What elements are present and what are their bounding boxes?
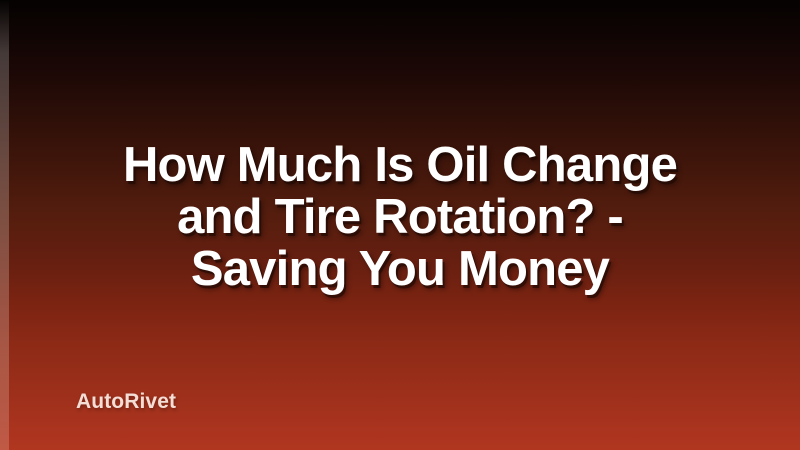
headline: How Much Is Oil Change and Tire Rotation…	[0, 139, 800, 295]
headline-line-3: Saving You Money	[26, 243, 774, 295]
brand-wordmark: AutoRivet	[76, 390, 176, 414]
headline-line-1: How Much Is Oil Change	[26, 139, 774, 191]
article-banner-card: How Much Is Oil Change and Tire Rotation…	[0, 0, 800, 450]
headline-line-2: and Tire Rotation? -	[26, 191, 774, 243]
